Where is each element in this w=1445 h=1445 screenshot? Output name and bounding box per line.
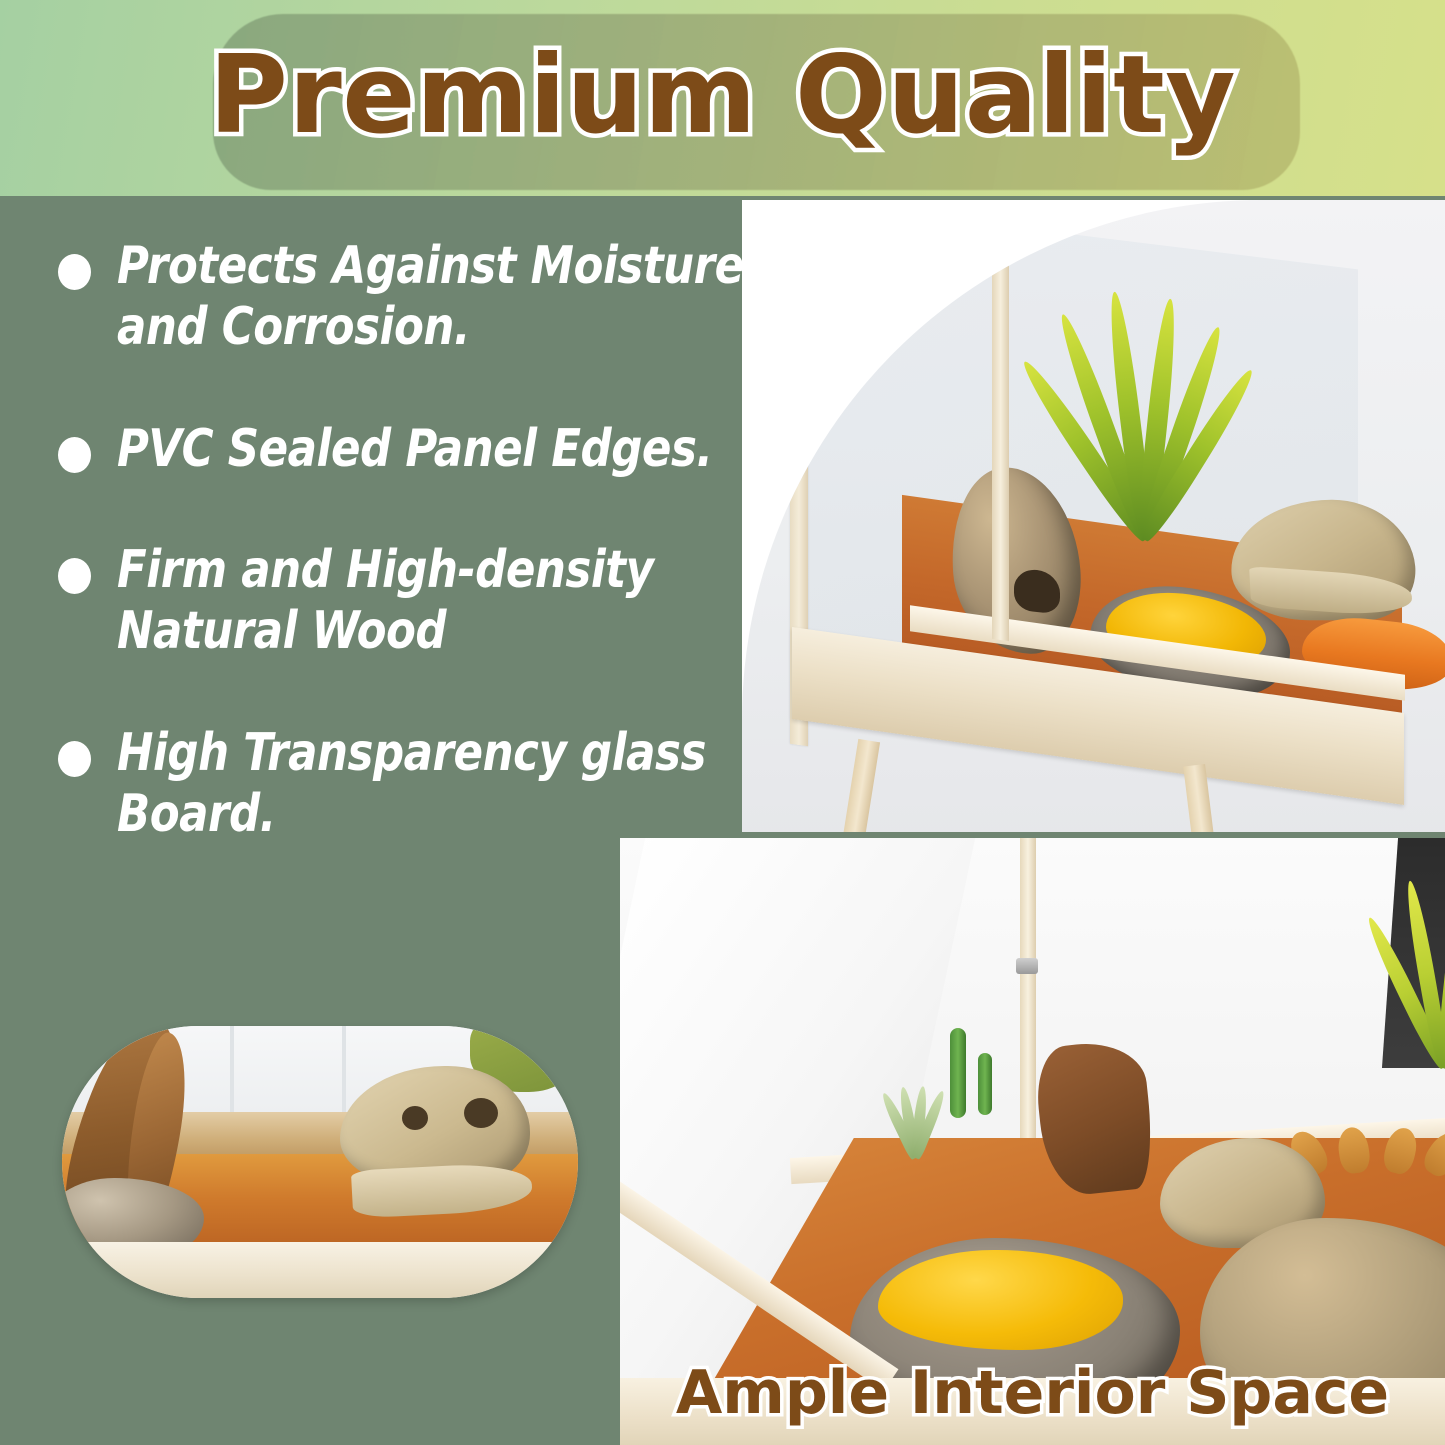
infographic-canvas: Premium Quality Protects Against Moistur…	[0, 0, 1445, 1445]
cactus-decor	[978, 1053, 992, 1115]
circle-bullet-icon	[58, 558, 91, 594]
panel-seam	[230, 1026, 234, 1122]
list-item: Protects Against Moisture and Corrosion.	[58, 236, 818, 359]
circle-bullet-icon	[58, 254, 91, 290]
terrarium-interior-scene: Ample Interior Space	[620, 838, 1445, 1445]
list-item: High Transparency glass Board.	[58, 723, 818, 846]
circle-bullet-icon	[58, 741, 91, 777]
corner-post-middle	[992, 209, 1009, 641]
fern-plant-decor	[1350, 838, 1445, 1068]
page-title: Premium Quality	[0, 42, 1445, 150]
feature-text: Protects Against Moisture and Corrosion.	[117, 236, 769, 359]
feature-list: Protects Against Moisture and Corrosion.…	[58, 236, 818, 906]
fern-plant-decor	[1020, 210, 1250, 540]
photo-caption: Ample Interior Space	[620, 1363, 1445, 1423]
cactus-decor	[950, 1028, 966, 1118]
skull-eye-socket	[464, 1098, 498, 1128]
list-item: Firm and High-density Natural Wood	[58, 540, 818, 663]
arc-photo-mask	[742, 200, 1445, 832]
water-bowl-basin	[878, 1250, 1123, 1350]
header-banner: Premium Quality	[0, 0, 1445, 196]
list-item: PVC Sealed Panel Edges.	[58, 419, 818, 480]
circle-bullet-icon	[58, 437, 91, 473]
feature-text: High Transparency glass Board.	[117, 723, 769, 846]
post-screw	[1016, 958, 1038, 974]
driftwood-skull-closeup-photo	[62, 1026, 578, 1298]
succulent-plant-decor	[875, 1068, 945, 1158]
terrarium-scene	[742, 200, 1445, 832]
wood-base-frame	[62, 1242, 578, 1298]
terrarium-interior-photo: Ample Interior Space	[620, 838, 1445, 1445]
panel-seam	[342, 1026, 346, 1122]
feature-text: Firm and High-density Natural Wood	[117, 540, 769, 663]
stand-leg-left	[842, 739, 880, 832]
terrarium-on-stand-photo	[742, 200, 1445, 832]
skull-eye-socket	[402, 1106, 428, 1130]
feature-text: PVC Sealed Panel Edges.	[117, 419, 712, 480]
